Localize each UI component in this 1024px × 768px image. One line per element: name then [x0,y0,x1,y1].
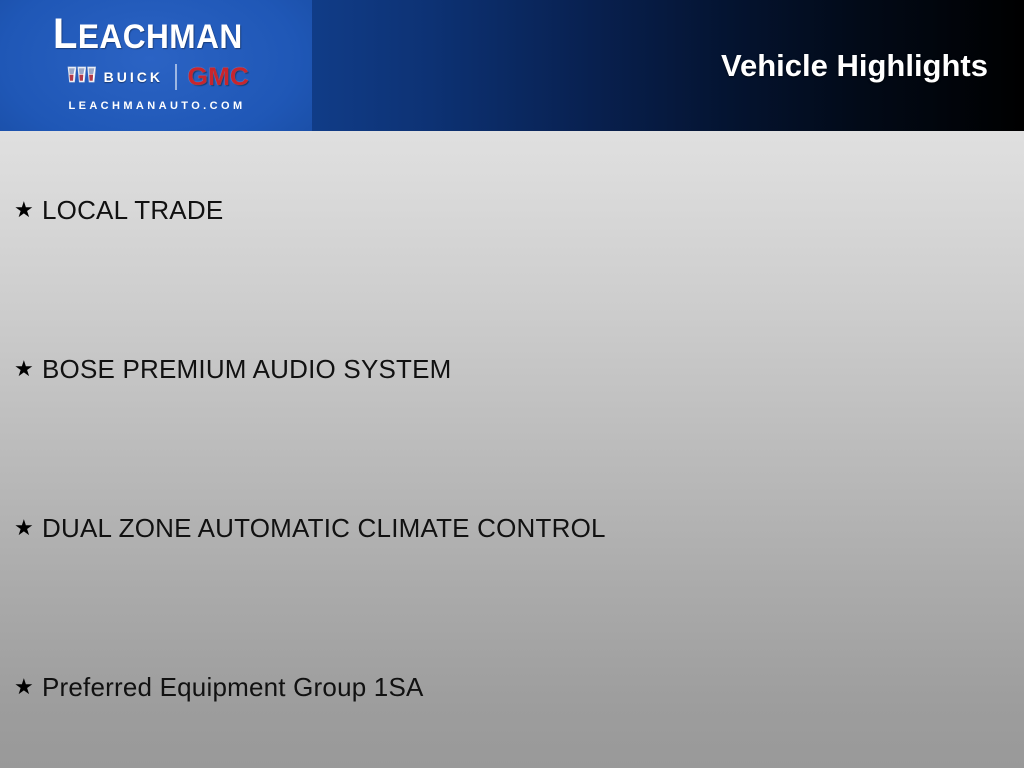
star-icon: ★ [14,354,42,384]
page-header: LEACHMAN [0,0,1024,131]
vehicle-highlights-slide: LEACHMAN [0,0,1024,768]
dealer-logo[interactable]: LEACHMAN [0,0,312,131]
highlight-label: LOCAL TRADE [42,195,223,225]
list-item: ★ LOCAL TRADE [14,195,223,225]
brand-divider [175,64,177,90]
buick-tri-shield-icon [67,65,97,89]
star-icon: ★ [14,195,42,225]
dealer-wordmark-lead: L [53,10,78,58]
star-icon: ★ [14,672,42,702]
dealer-wordmark: LEACHMAN [26,12,270,59]
highlight-label: Preferred Equipment Group 1SA [42,672,424,702]
highlights-list: ★ LOCAL TRADE ★ BOSE PREMIUM AUDIO SYSTE… [0,131,1024,768]
page-title: Vehicle Highlights [721,48,988,84]
gmc-label: GMC [188,65,249,90]
list-item: ★ BOSE PREMIUM AUDIO SYSTEM [14,354,452,384]
star-icon: ★ [14,513,42,543]
list-item: ★ DUAL ZONE AUTOMATIC CLIMATE CONTROL [14,513,606,543]
dealer-wordmark-rest: EACHMAN [78,18,243,56]
brand-row: BUICK GMC [26,62,288,92]
highlight-label: DUAL ZONE AUTOMATIC CLIMATE CONTROL [42,513,606,543]
highlight-label: BOSE PREMIUM AUDIO SYSTEM [42,354,452,384]
buick-label: BUICK [104,70,163,84]
dealer-website[interactable]: LEACHMANAUTO.COM [26,100,288,112]
list-item: ★ Preferred Equipment Group 1SA [14,672,424,702]
buick-lockup: BUICK [67,65,163,89]
